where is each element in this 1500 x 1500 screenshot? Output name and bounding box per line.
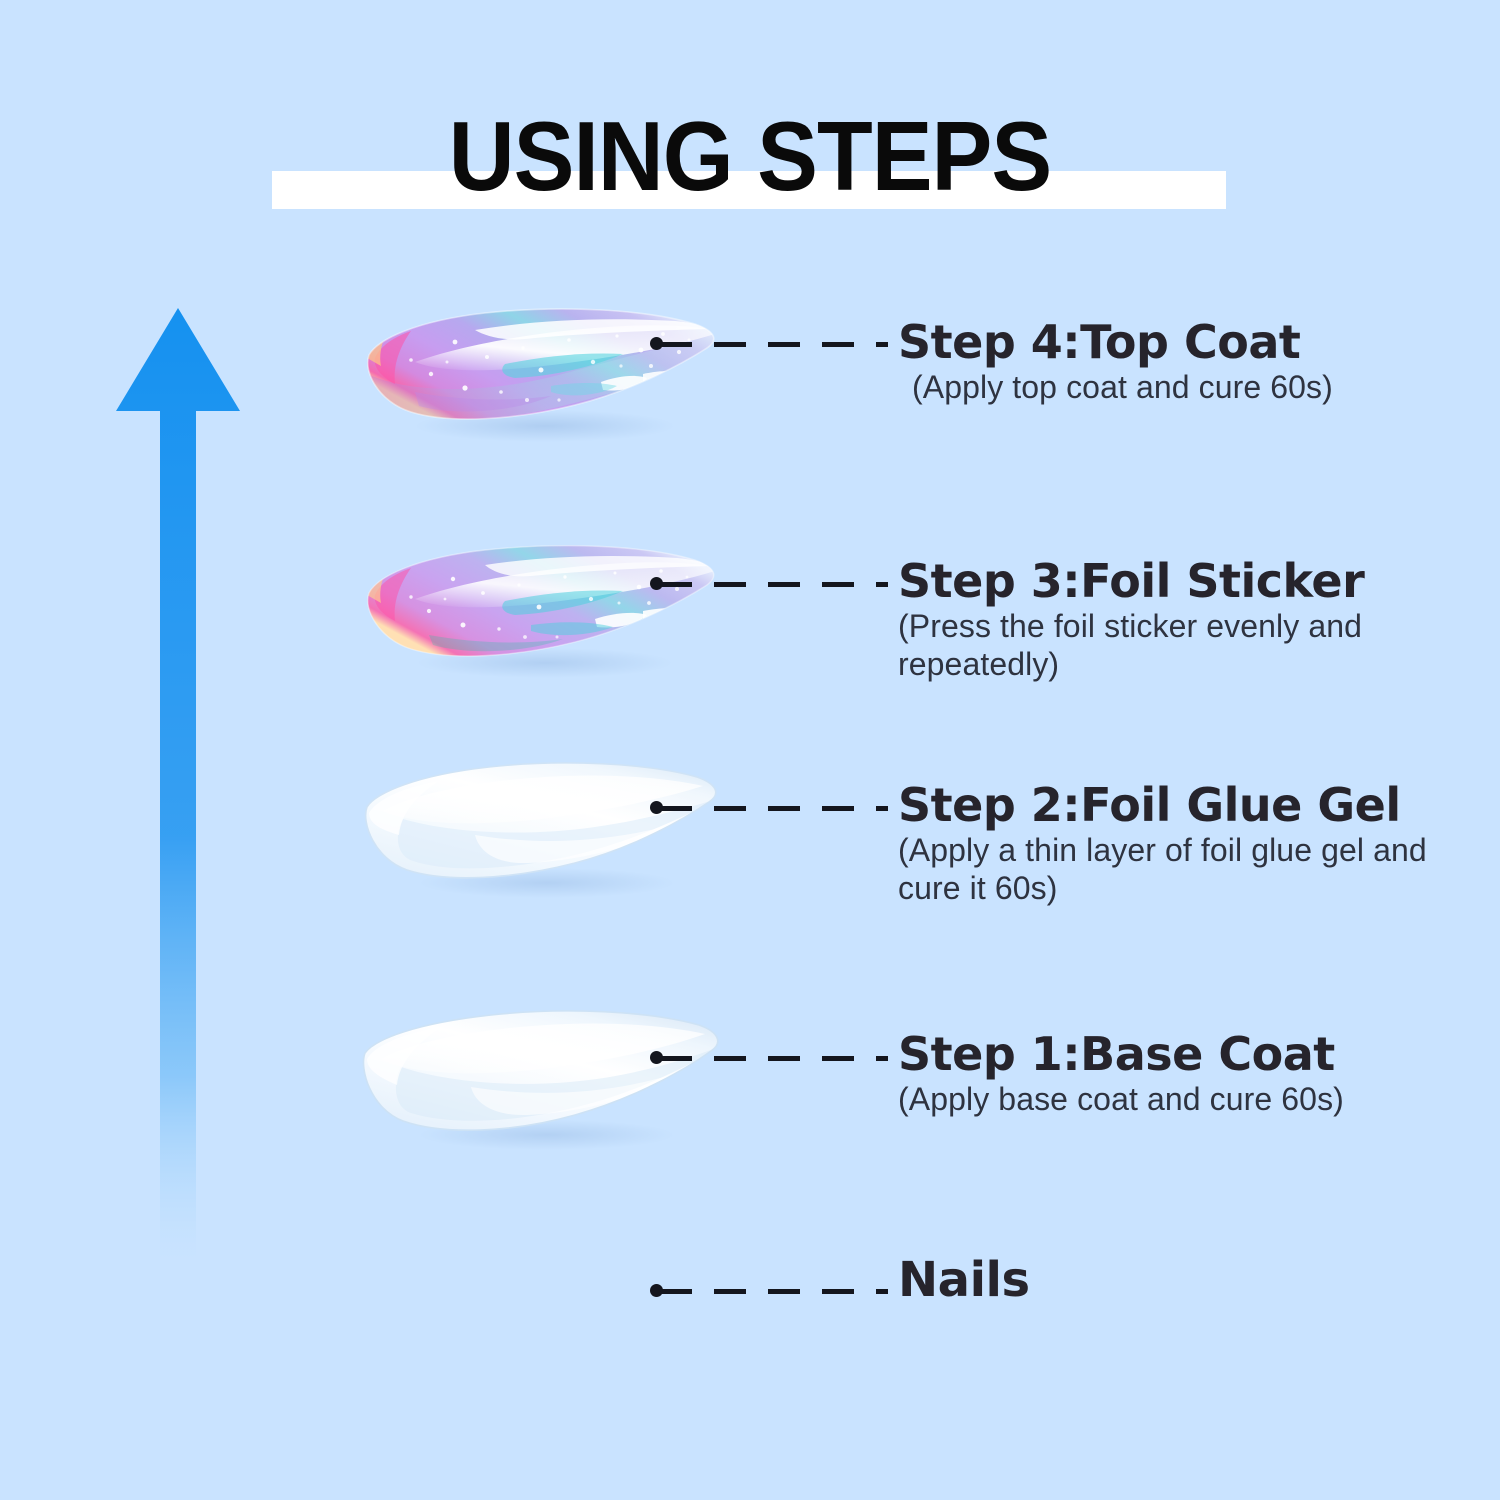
using-steps-infographic: USING STEPS xyxy=(0,0,1500,1500)
label-step-2: Step 2:Foil Glue Gel (Apply a thin layer… xyxy=(898,779,1427,907)
step-desc-3-line-1: (Press the foil sticker evenly and xyxy=(898,607,1364,645)
page-title: USING STEPS xyxy=(53,106,1448,206)
step-desc-2-line-2: cure it 60s) xyxy=(898,869,1427,907)
leader-dashes-step-2 xyxy=(660,806,888,811)
step-desc-4-line-1: (Apply top coat and cure 60s) xyxy=(912,368,1333,406)
nail-step-4 xyxy=(355,300,725,460)
step-row-3: Step 3:Foil Sticker (Press the foil stic… xyxy=(0,535,1500,705)
step-desc-1-line-1: (Apply base coat and cure 60s) xyxy=(898,1080,1344,1118)
leader-dashes-step-4 xyxy=(660,342,888,347)
nail-step-3 xyxy=(355,535,725,695)
step-row-nails: Nails xyxy=(0,1280,1500,1350)
step-title-1: Step 1:Base Coat xyxy=(898,1028,1344,1080)
step-title-3: Step 3:Foil Sticker xyxy=(898,555,1364,607)
step-row-2: Step 2:Foil Glue Gel (Apply a thin layer… xyxy=(0,755,1500,925)
step-title-2: Step 2:Foil Glue Gel xyxy=(898,779,1427,831)
label-step-4: Step 4:Top Coat (Apply top coat and cure… xyxy=(898,316,1333,406)
nail-step-1 xyxy=(355,1005,725,1165)
base-title-nails: Nails xyxy=(898,1254,1030,1306)
leader-dashes-nails xyxy=(660,1289,888,1294)
label-step-1: Step 1:Base Coat (Apply base coat and cu… xyxy=(898,1028,1344,1118)
nail-step-2 xyxy=(355,755,725,915)
step-row-1: Step 1:Base Coat (Apply base coat and cu… xyxy=(0,1005,1500,1165)
step-title-4: Step 4:Top Coat xyxy=(898,316,1333,368)
step-desc-3-line-2: repeatedly) xyxy=(898,645,1364,683)
step-desc-2-line-1: (Apply a thin layer of foil glue gel and xyxy=(898,831,1427,869)
label-nails: Nails xyxy=(898,1254,1030,1306)
step-row-4: Step 4:Top Coat (Apply top coat and cure… xyxy=(0,300,1500,450)
leader-dashes-step-1 xyxy=(660,1056,888,1061)
label-step-3: Step 3:Foil Sticker (Press the foil stic… xyxy=(898,555,1364,683)
leader-dashes-step-3 xyxy=(660,582,888,587)
